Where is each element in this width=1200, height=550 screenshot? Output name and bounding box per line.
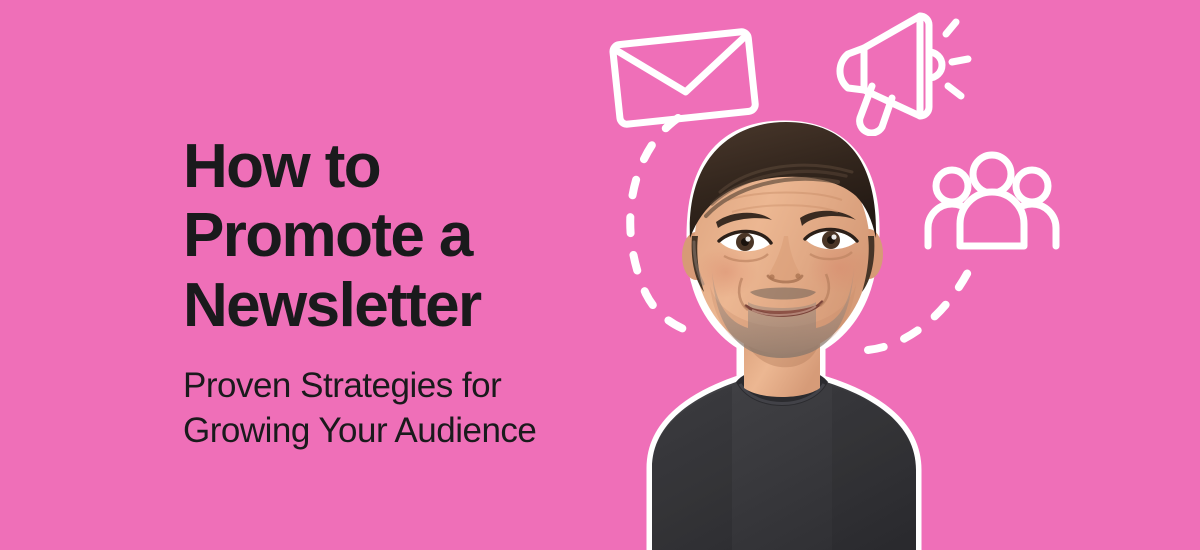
man-portrait-photo [520, 96, 1040, 550]
newsletter-promo-banner: How to Promote a Newsletter Proven Strat… [0, 0, 1200, 550]
